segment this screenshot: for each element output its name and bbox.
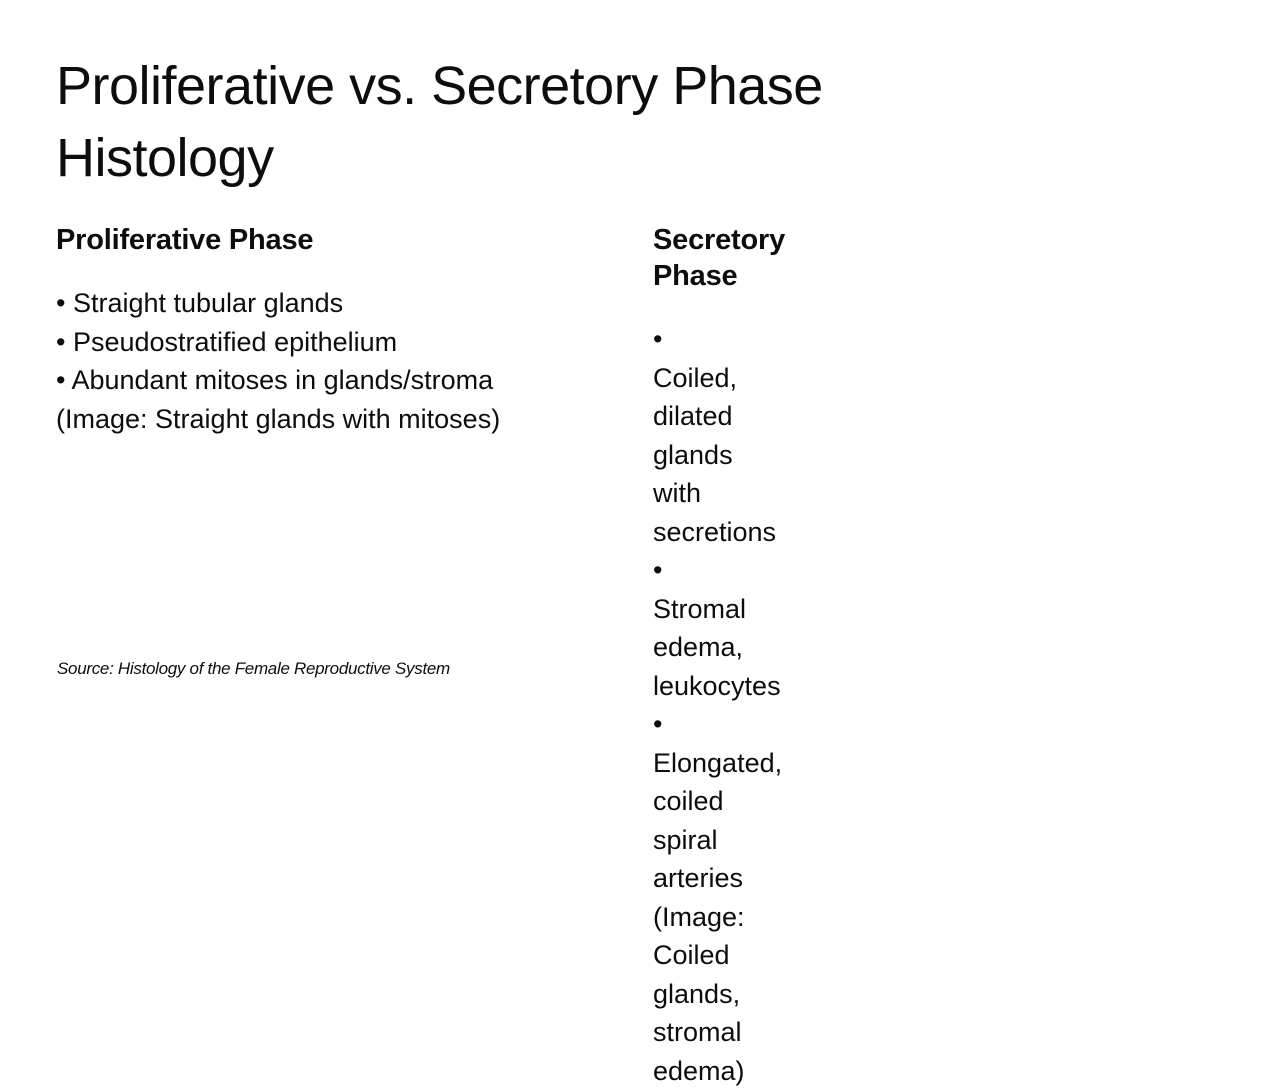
page-title: Proliferative vs. Secretory Phase Histol…	[56, 50, 1016, 194]
source-attribution: Source: Histology of the Female Reproduc…	[57, 657, 450, 681]
column-secretory: Secretory Phase • Coiled, dilated glands…	[0, 222, 693, 1090]
slide-canvas: Proliferative vs. Secretory Phase Histol…	[0, 0, 1280, 720]
comparison-columns: Proliferative Phase • Straight tubular g…	[0, 222, 1280, 1090]
